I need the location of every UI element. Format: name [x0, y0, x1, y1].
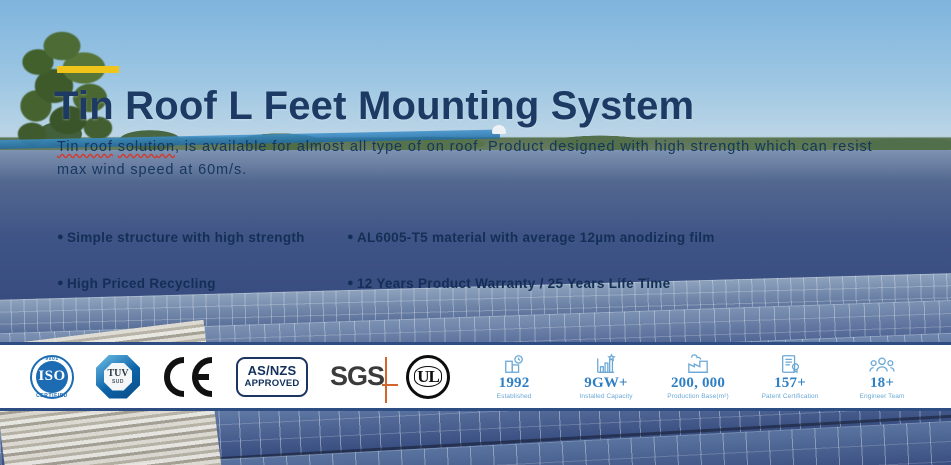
- stat-label: Established: [476, 392, 552, 401]
- globe-hands-icon: [936, 352, 951, 375]
- iso-label: ISO: [38, 368, 65, 385]
- stat-installed-capacity: 9GW+ Installed Capacity: [568, 352, 644, 401]
- as-nzs-approved-badge: AS/NZS APPROVED: [236, 357, 308, 397]
- feature-text: Simple structure with high strength: [67, 230, 305, 245]
- asnzs-line2: APPROVED: [245, 378, 300, 389]
- factory-icon: [660, 352, 736, 375]
- tuv-label: TUV: [107, 369, 128, 379]
- subtitle-misspelled-3: on: [157, 139, 175, 155]
- stat-number: 200, 000: [660, 375, 736, 392]
- feature-item: ● High Priced Recycling: [57, 276, 347, 291]
- tuv-sud-badge: TUV SUD: [96, 355, 140, 399]
- bullet-icon: ●: [57, 232, 64, 243]
- bullet-icon: ●: [347, 278, 354, 289]
- asnzs-line1: AS/NZS: [248, 364, 297, 378]
- product-banner: Tin Roof L Feet Mounting System Tin roof…: [0, 0, 951, 465]
- stat-production-base: 200, 000 Production Base(m²): [660, 352, 736, 401]
- iso-top-text: 9001: [45, 356, 59, 362]
- bullet-icon: ●: [57, 278, 64, 289]
- certificate-icon: [752, 352, 828, 375]
- feature-item: ● AL6005-T5 material with average 12µm a…: [347, 230, 747, 245]
- stat-engineer-team: 18+ Engineer Team: [844, 352, 920, 401]
- stat-countries: 100+ Countries: [936, 352, 951, 401]
- stat-number: 9GW+: [568, 375, 644, 392]
- subtitle-misspelled-2: soluti: [118, 139, 157, 155]
- feature-text: 12 Years Product Warranty / 25 Years Lif…: [357, 276, 670, 291]
- feature-item: ● 12 Years Product Warranty / 25 Years L…: [347, 276, 747, 291]
- stat-label: Production Base(m²): [660, 392, 736, 401]
- bullet-icon: ●: [347, 232, 354, 243]
- ul-label: UL: [414, 366, 442, 387]
- feature-list: ● Simple structure with high strength ● …: [57, 214, 757, 306]
- stat-label: Patent Certification: [752, 392, 828, 401]
- stat-label: Countries: [936, 392, 951, 401]
- subtitle-rest: , is available for almost all type of on…: [57, 139, 873, 178]
- feature-text: High Priced Recycling: [67, 276, 216, 291]
- ce-mark-icon: [162, 356, 214, 398]
- stat-established: 1992 Established: [476, 352, 552, 401]
- banner-subtitle: Tin roof solution, is available for almo…: [57, 136, 877, 182]
- sgs-accent-bar: [385, 357, 387, 403]
- certification-stats-strip: 9001 ISO CERTIFIED TUV SUD: [0, 342, 951, 411]
- iso-9001-certified-badge: 9001 ISO CERTIFIED: [30, 355, 74, 399]
- iso-bottom-text: CERTIFIED: [36, 393, 68, 399]
- stat-label: Installed Capacity: [568, 392, 644, 401]
- sgs-label: SGS: [330, 361, 384, 392]
- banner-content: Tin Roof L Feet Mounting System Tin roof…: [0, 0, 951, 342]
- company-stats: 1992 Established 9GW+ Installed Capacity: [450, 345, 951, 408]
- people-group-icon: [844, 352, 920, 375]
- factory-clock-icon: [476, 352, 552, 375]
- stat-patent-certification: 157+ Patent Certification: [752, 352, 828, 401]
- sgs-badge: SGS: [330, 361, 384, 392]
- feature-item: ● Simple structure with high strength: [57, 230, 347, 245]
- tuv-sub-label: SUD: [112, 379, 124, 385]
- accent-bar: [57, 66, 119, 73]
- stat-number: 157+: [752, 375, 828, 392]
- bar-chart-star-icon: [568, 352, 644, 375]
- stat-number: 100+: [936, 375, 951, 392]
- ce-mark-badge: [162, 356, 214, 398]
- page-title: Tin Roof L Feet Mounting System: [54, 84, 694, 129]
- stat-number: 18+: [844, 375, 920, 392]
- stat-label: Engineer Team: [844, 392, 920, 401]
- stat-number: 1992: [476, 375, 552, 392]
- feature-text: AL6005-T5 material with average 12µm ano…: [357, 230, 715, 245]
- sgs-accent-bar-2: [382, 384, 398, 386]
- subtitle-misspelled-1: Tin roof: [57, 139, 113, 155]
- certification-logos: 9001 ISO CERTIFIED TUV SUD: [0, 345, 450, 408]
- ul-listed-badge: UL: [406, 355, 450, 399]
